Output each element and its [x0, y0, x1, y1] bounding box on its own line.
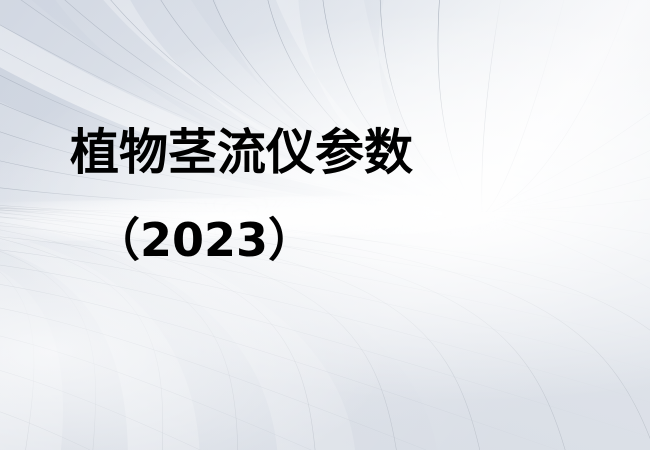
slide-title-line-1: 植物茎流仪参数 [70, 128, 590, 177]
slide-title-block: 植物茎流仪参数 （2023） [70, 128, 590, 263]
slide-title-line-2: （2023） [94, 217, 590, 263]
title-slide: 植物茎流仪参数 （2023） [0, 0, 650, 450]
